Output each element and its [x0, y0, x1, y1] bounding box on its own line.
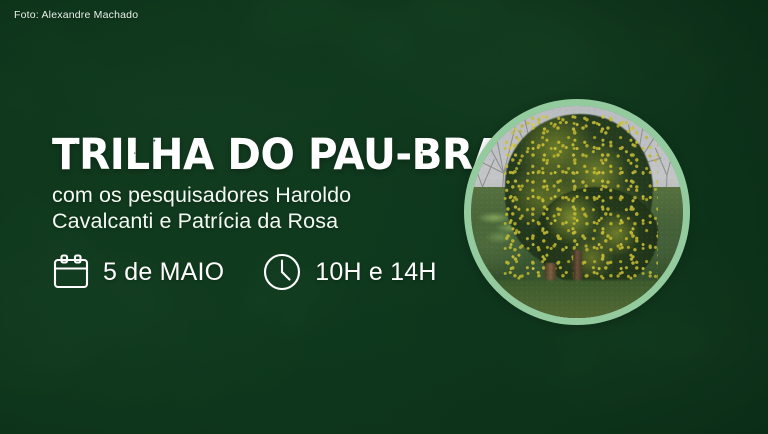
- clock-icon: [262, 252, 302, 292]
- headline-block: TRILHA DO PAU-BRASIL com os pesquisadore…: [52, 133, 462, 234]
- event-date-text: 5 de MAIO: [103, 258, 224, 287]
- subtitle-line-2: Cavalcanti e Patrícia da Rosa: [52, 208, 462, 234]
- event-time-text: 10H e 14H: [315, 258, 436, 287]
- photo-credit: Foto: Alexandre Machado: [14, 9, 138, 21]
- photo-ring: [464, 99, 690, 325]
- event-banner: Foto: Alexandre Machado TRILHA DO PAU-BR…: [0, 0, 768, 434]
- subtitle-line-1: com os pesquisadores Haroldo: [52, 182, 462, 208]
- page-title: TRILHA DO PAU-BRASIL: [52, 133, 437, 177]
- calendar-icon: [52, 253, 90, 291]
- event-date: 5 de MAIO: [52, 253, 224, 291]
- event-time: 10H e 14H: [262, 252, 436, 292]
- event-details-row: 5 de MAIO 10H e 14H: [52, 252, 437, 292]
- photo-lawn: [471, 280, 683, 318]
- subtitle-block: com os pesquisadores Haroldo Cavalcanti …: [52, 182, 462, 234]
- tree-photo: [471, 106, 683, 318]
